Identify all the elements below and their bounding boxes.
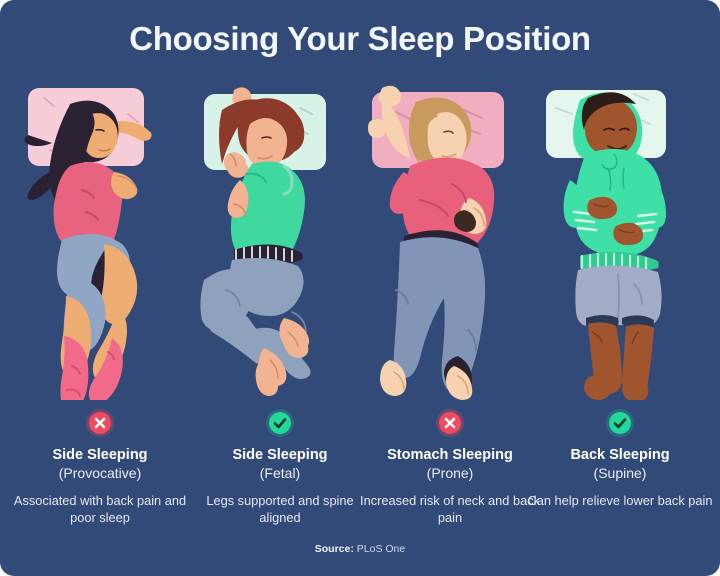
illustration-side-fetal [190,80,370,400]
cross-icon [439,412,461,434]
illustration-stomach-prone [360,80,540,400]
source-label: Source: [315,543,354,555]
check-icon [609,412,631,434]
position-description: Associated with back pain and poor sleep [4,492,196,526]
illustration-side-provocative [10,80,190,400]
caption-side-provocative: Side Sleeping (Provocative) Associated w… [4,446,196,526]
caption-side-fetal: Side Sleeping (Fetal) Legs supported and… [184,446,376,526]
illustration-back-supine [530,80,710,400]
position-card-side-provocative[interactable]: Side Sleeping (Provocative) Associated w… [10,80,190,540]
position-card-side-fetal[interactable]: Side Sleeping (Fetal) Legs supported and… [190,80,370,540]
position-subtitle: (Provocative) [4,464,196,483]
caption-stomach-prone: Stomach Sleeping (Prone) Increased risk … [354,446,546,526]
position-description: Increased risk of neck and back pain [354,492,546,526]
position-description: Can help relieve lower back pain [524,492,716,509]
status-badge-bad [439,412,461,434]
position-title: Side Sleeping [4,446,196,464]
caption-back-supine: Back Sleeping (Supine) Can help relieve … [524,446,716,509]
position-title: Stomach Sleeping [354,446,546,464]
position-card-back-supine[interactable]: Back Sleeping (Supine) Can help relieve … [530,80,710,540]
status-badge-bad [89,412,111,434]
positions-grid: Side Sleeping (Provocative) Associated w… [0,80,720,540]
source-attribution: Source: PLoS One [0,543,720,555]
position-subtitle: (Fetal) [184,464,376,483]
status-badge-good [609,412,631,434]
check-icon [269,412,291,434]
infographic-card: Choosing Your Sleep Position [0,0,720,576]
position-title: Side Sleeping [184,446,376,464]
position-description: Legs supported and spine aligned [184,492,376,526]
position-title: Back Sleeping [524,446,716,464]
source-value: PLoS One [357,543,405,555]
position-card-stomach-prone[interactable]: Stomach Sleeping (Prone) Increased risk … [360,80,540,540]
status-badge-good [269,412,291,434]
position-subtitle: (Supine) [524,464,716,483]
cross-icon [89,412,111,434]
position-subtitle: (Prone) [354,464,546,483]
page-title: Choosing Your Sleep Position [0,20,720,58]
